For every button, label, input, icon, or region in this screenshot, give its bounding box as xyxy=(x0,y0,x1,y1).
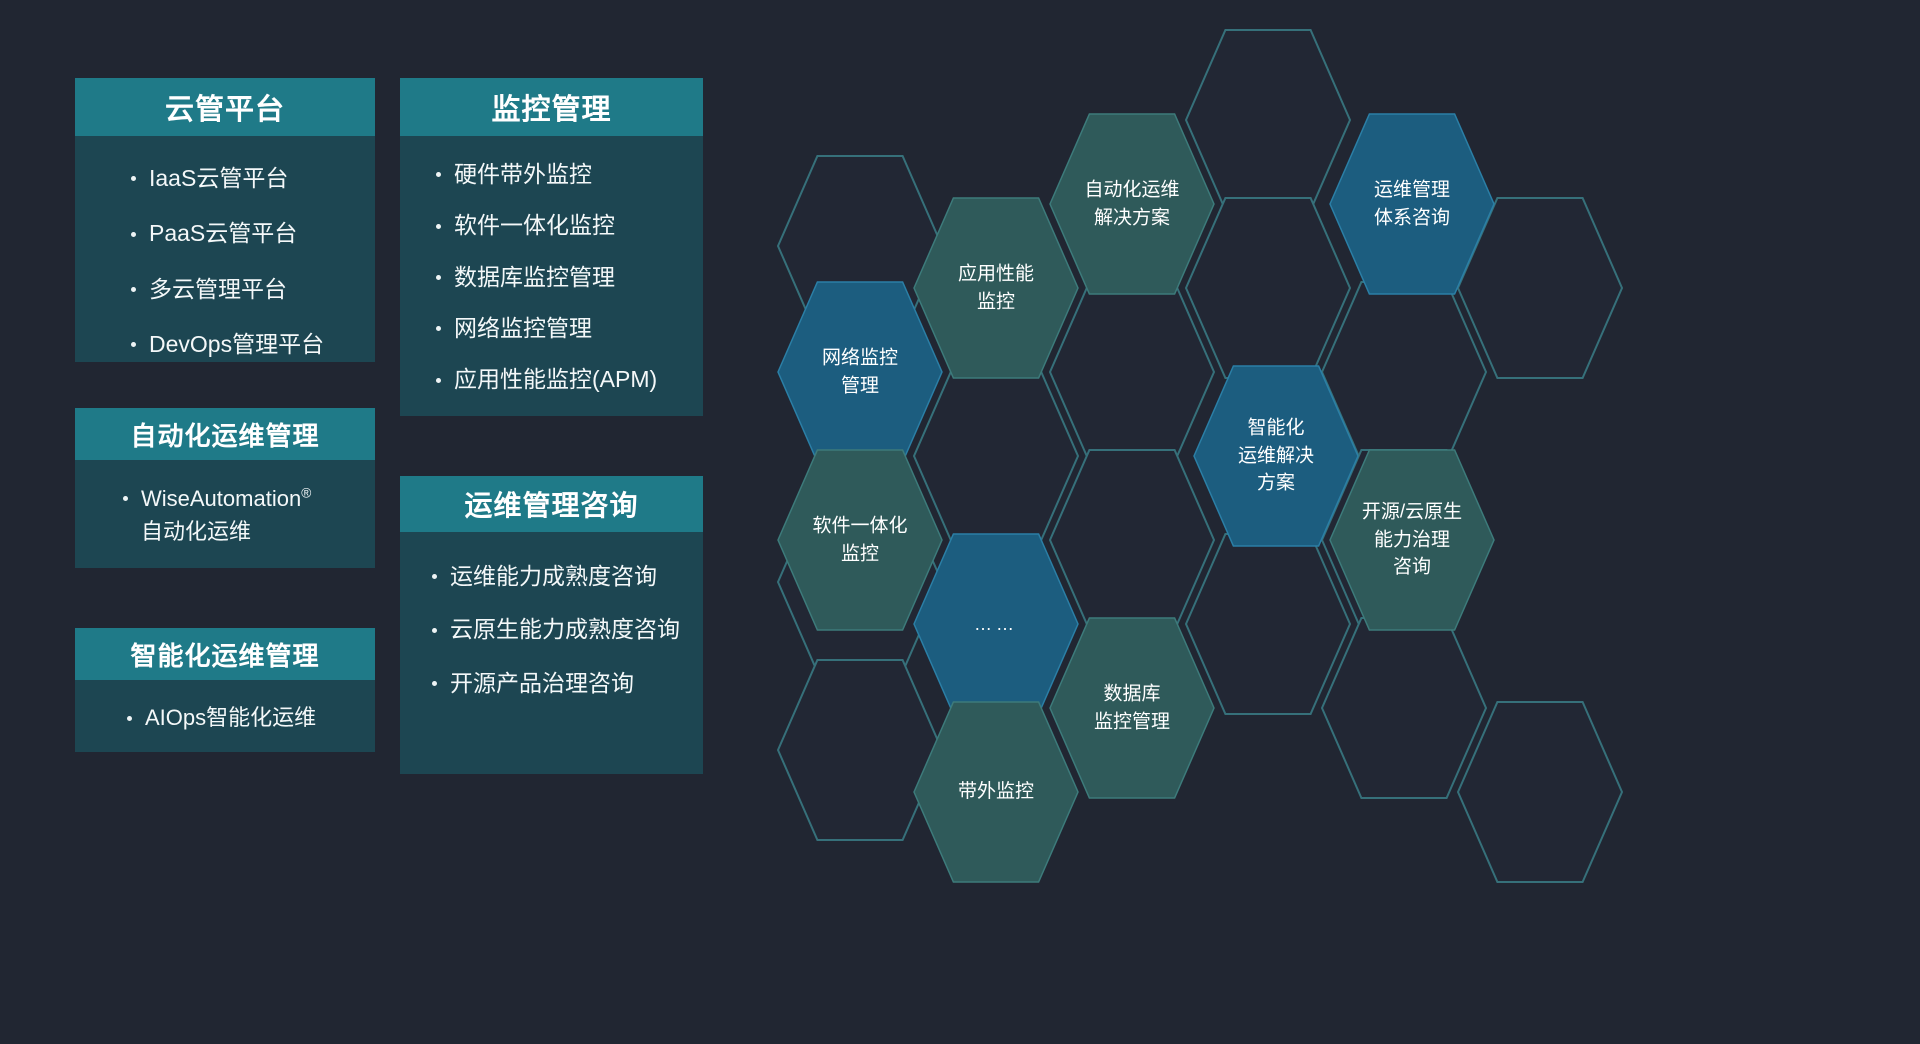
list-item: AIOps智能化运维 xyxy=(123,702,375,734)
panel-monitoring-management: 监控管理 硬件带外监控 软件一体化监控 数据库监控管理 网络监控管理 应用性能监… xyxy=(400,78,703,416)
list-item: 数据库监控管理 xyxy=(432,261,703,294)
hex-empty-5 xyxy=(914,366,1078,546)
panel-automation-ops-title: 自动化运维管理 xyxy=(75,408,375,460)
list-item: 硬件带外监控 xyxy=(432,158,703,191)
bullet-dot xyxy=(131,176,136,181)
list-item-label: 应用性能监控(APM) xyxy=(454,366,657,392)
bullet-dot xyxy=(131,232,136,237)
panel-aiops-management-body: AIOps智能化运维 xyxy=(75,680,375,752)
panel-monitoring-management-body: 硬件带外监控 软件一体化监控 数据库监控管理 网络监控管理 应用性能监控(APM… xyxy=(400,136,703,416)
list-item: 网络监控管理 xyxy=(432,312,703,345)
panel-cloud-platform: 云管平台 IaaS云管平台 PaaS云管平台 多云管理平台 DevOps管理平台 xyxy=(75,78,375,362)
panel-cloud-platform-body: IaaS云管平台 PaaS云管平台 多云管理平台 DevOps管理平台 xyxy=(75,136,375,362)
list-item-label: 多云管理平台 xyxy=(149,276,287,302)
hex-auto-sol[interactable] xyxy=(1050,114,1214,294)
list-item-label: 网络监控管理 xyxy=(454,315,592,341)
hex-empty-11 xyxy=(1186,534,1350,714)
panel-automation-ops-body: WiseAutomation® 自动化运维 xyxy=(75,460,375,568)
bullet-dot xyxy=(131,287,136,292)
panel-ops-consulting: 运维管理咨询 运维能力成熟度咨询 云原生能力成熟度咨询 开源产品治理咨询 xyxy=(400,476,703,774)
hex-empty-3 xyxy=(1186,198,1350,378)
list-item: 应用性能监控(APM) xyxy=(432,363,703,396)
bullet-dot xyxy=(436,326,441,331)
panel-cloud-platform-title: 云管平台 xyxy=(75,78,375,136)
list-item-label: 软件一体化监控 xyxy=(454,212,615,238)
list-item-label-main: WiseAutomation xyxy=(141,486,301,511)
list-item-label: AIOps智能化运维 xyxy=(145,705,316,730)
list-item-label: 云原生能力成熟度咨询 xyxy=(450,616,680,642)
list-item: IaaS云管平台 xyxy=(127,162,375,195)
panel-aiops-management-title: 智能化运维管理 xyxy=(75,628,375,680)
hexagon-grid: 应用性能 监控自动化运维 解决方案运维管理 体系咨询网络监控 管理软件一体化 监… xyxy=(760,0,1920,1044)
list-item: 云原生能力成熟度咨询 xyxy=(428,613,703,646)
hex-oob-mon[interactable] xyxy=(914,702,1078,882)
list-item-label: 运维能力成熟度咨询 xyxy=(450,563,657,589)
list-item-label: 开源产品治理咨询 xyxy=(450,670,634,696)
hex-empty-10 xyxy=(778,660,942,840)
list-item-label: DevOps管理平台 xyxy=(149,331,324,357)
list-item: 多云管理平台 xyxy=(127,273,375,306)
hex-empty-14 xyxy=(1458,702,1622,882)
diagram-root: 云管平台 IaaS云管平台 PaaS云管平台 多云管理平台 DevOps管理平台… xyxy=(0,0,1920,1044)
list-item: 软件一体化监控 xyxy=(432,209,703,242)
registered-mark: ® xyxy=(301,486,311,501)
hex-empty-12 xyxy=(1322,618,1486,798)
bullet-dot xyxy=(436,224,441,229)
bullet-dot xyxy=(131,342,136,347)
hex-app-perf[interactable] xyxy=(914,198,1078,378)
panel-automation-ops: 自动化运维管理 WiseAutomation® 自动化运维 xyxy=(75,408,375,568)
list-item-label: PaaS云管平台 xyxy=(149,220,297,246)
list-item: 运维能力成熟度咨询 xyxy=(428,560,703,593)
bullet-dot xyxy=(436,172,441,177)
hex-empty-6 xyxy=(1050,450,1214,630)
panel-monitoring-management-title: 监控管理 xyxy=(400,78,703,136)
hex-empty-4 xyxy=(1050,282,1214,462)
hex-net-mon[interactable] xyxy=(778,282,942,462)
panel-ops-consulting-title: 运维管理咨询 xyxy=(400,476,703,532)
hexagon-grid-svg xyxy=(760,0,1920,1044)
hex-db-mon[interactable] xyxy=(1050,618,1214,798)
panel-ops-consulting-body: 运维能力成熟度咨询 云原生能力成熟度咨询 开源产品治理咨询 xyxy=(400,532,703,774)
bullet-dot xyxy=(123,496,128,501)
bullet-dot xyxy=(127,716,132,721)
list-item: PaaS云管平台 xyxy=(127,217,375,250)
bullet-dot xyxy=(432,628,437,633)
panel-aiops-management: 智能化运维管理 AIOps智能化运维 xyxy=(75,628,375,752)
hex-ellipsis[interactable] xyxy=(914,534,1078,714)
list-item-label-second: 自动化运维 xyxy=(141,519,251,544)
bullet-dot xyxy=(432,574,437,579)
bullet-dot xyxy=(436,378,441,383)
list-item: WiseAutomation® 自动化运维 xyxy=(119,482,375,548)
list-item: 开源产品治理咨询 xyxy=(428,667,703,700)
hex-empty-2 xyxy=(1186,30,1350,210)
list-item: DevOps管理平台 xyxy=(127,328,375,361)
bullet-dot xyxy=(436,275,441,280)
list-item-label: 硬件带外监控 xyxy=(454,161,592,187)
list-item-label: 数据库监控管理 xyxy=(454,264,615,290)
bullet-dot xyxy=(432,681,437,686)
list-item-label: IaaS云管平台 xyxy=(149,165,288,191)
